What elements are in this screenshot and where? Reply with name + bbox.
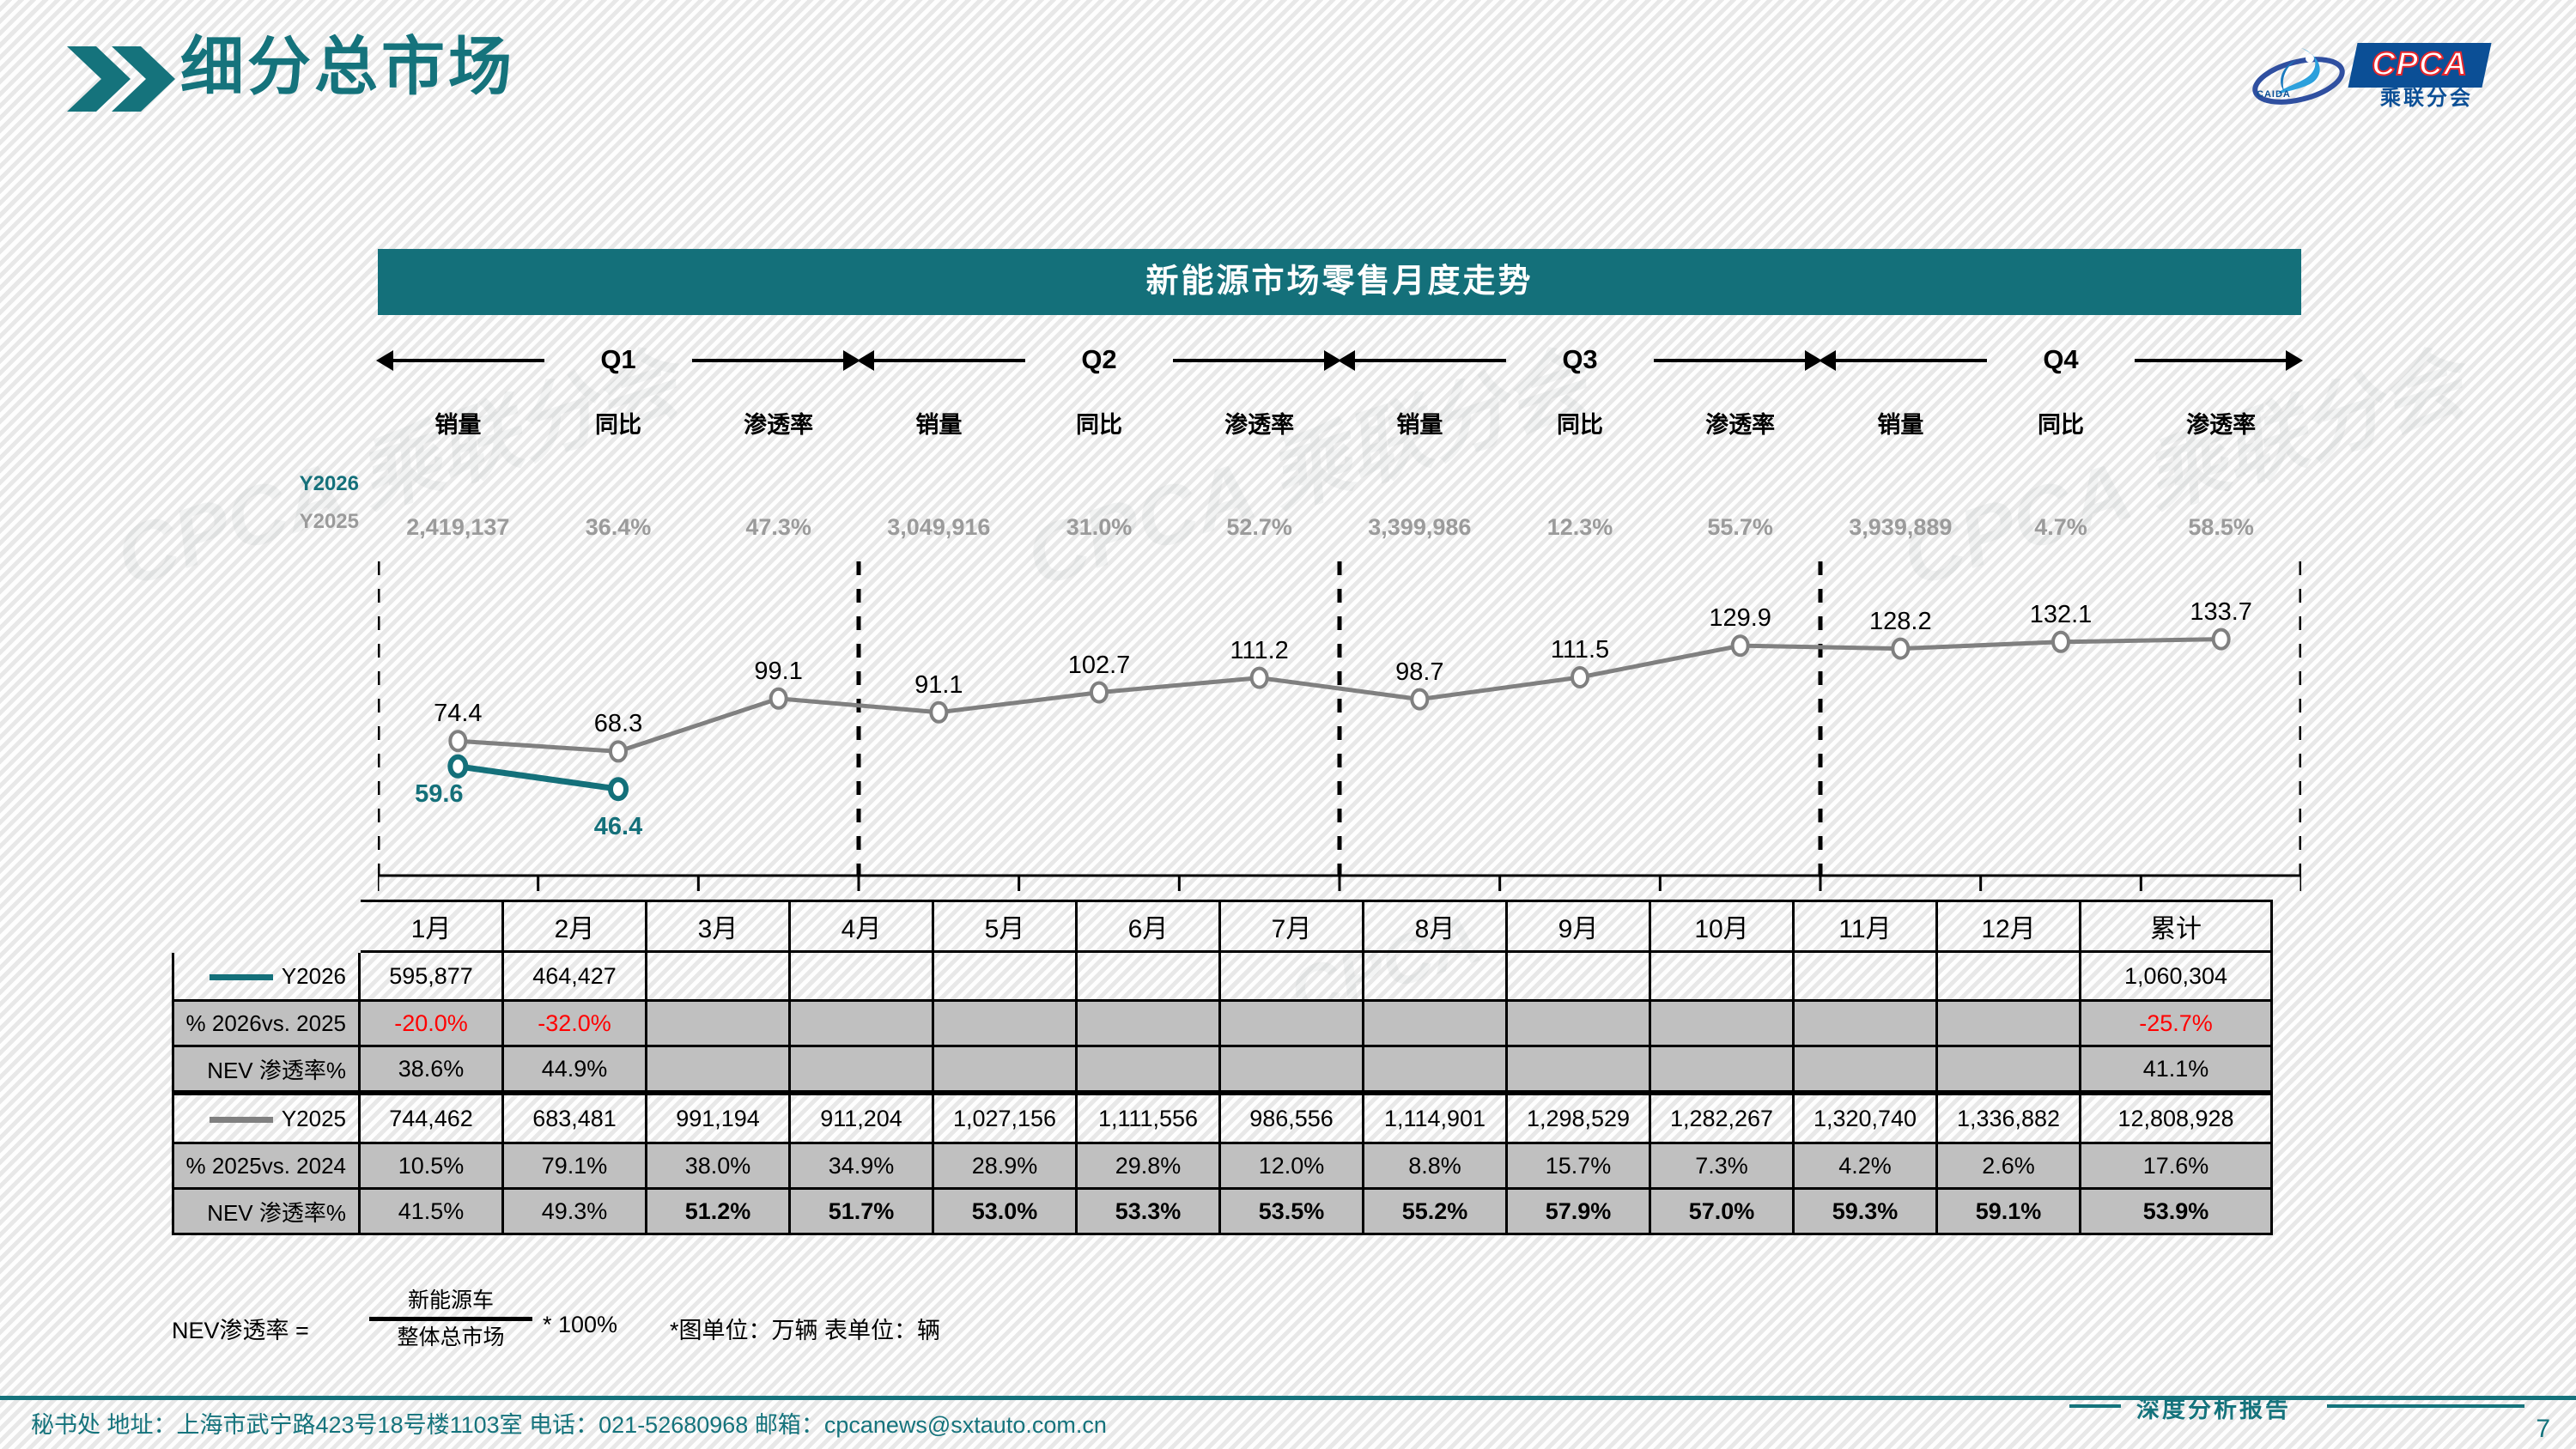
table-cell (1937, 952, 2081, 1001)
series-marker-y2025-3 (931, 703, 946, 722)
series-marker-y2025-1 (611, 742, 626, 761)
table-cell: 595,877 (360, 952, 503, 1001)
series-marker-y2025-8 (1733, 636, 1748, 655)
table-cell (790, 1001, 933, 1046)
table-row-label-cell: % 2025vs. 2024 (173, 1143, 360, 1189)
table-row-label-cell: Y2025 (173, 1093, 360, 1143)
table-cell: 55.2% (1364, 1189, 1507, 1234)
metric-header-row: 销量同比渗透率销量同比渗透率销量同比渗透率销量同比渗透率 (378, 403, 2301, 446)
chart-title: 新能源市场零售月度走势 (378, 249, 2301, 315)
formula-denominator: 整体总市场 (369, 1323, 532, 1352)
formula-lead: NEV渗透率 = (172, 1312, 309, 1345)
metric-header-q3-0: 销量 (1340, 403, 1500, 446)
table-cell (1364, 952, 1507, 1001)
table-col-header-5: 5月 (933, 901, 1077, 952)
table-cell: 44.9% (503, 1046, 647, 1094)
table-cell: 51.2% (647, 1189, 790, 1234)
table-col-header-10: 10月 (1650, 901, 1794, 952)
table-row-label-cell: Y2026 (173, 952, 360, 1001)
quarter-header-q4: Q4 (1820, 342, 2301, 393)
data-label-y2025-5: 111.2 (1230, 637, 1289, 665)
legend-line-y2026 (210, 974, 273, 980)
table-cell (1364, 1046, 1507, 1094)
metric-header-q1-1: 同比 (538, 403, 699, 446)
table-cell (1077, 1001, 1220, 1046)
table-cell (933, 1001, 1077, 1046)
data-label-y2026-1: 46.4 (594, 813, 642, 841)
table-cell: 744,462 (360, 1093, 503, 1143)
summary-value-y2025-9: 3,939,889 (1820, 510, 1981, 544)
data-label-y2025-4: 102.7 (1068, 652, 1131, 680)
table-cell: 1,298,529 (1507, 1093, 1650, 1143)
data-label-y2025-8: 129.9 (1709, 604, 1771, 633)
table-cell (933, 1046, 1077, 1094)
table-cell: 1,282,267 (1650, 1093, 1794, 1143)
summary-value-y2025-5: 52.7% (1179, 510, 1340, 544)
data-label-y2025-0: 74.4 (434, 700, 482, 728)
formula-units: *图单位：万辆 表单位：辆 (670, 1312, 940, 1345)
table-cell: 464,427 (503, 952, 647, 1001)
legend-line-y2025 (210, 1117, 273, 1123)
table-col-header-6: 6月 (1077, 901, 1220, 952)
table-cell: 1,320,740 (1794, 1093, 1937, 1143)
table-cell (1794, 1046, 1937, 1094)
footer-dash-left (2069, 1404, 2121, 1408)
table-cell: 53.9% (2081, 1189, 2272, 1234)
series-marker-y2025-9 (1893, 640, 1908, 658)
table-col-header-8: 8月 (1364, 901, 1507, 952)
table-cell (1507, 1001, 1650, 1046)
summary-label-y2025: Y2025 (258, 510, 359, 534)
table-row-label-cell: NEV 渗透率% (173, 1189, 360, 1234)
formula-fraction: 新能源车 整体总市场 (369, 1286, 532, 1352)
table-col-header-11: 11月 (1794, 901, 1937, 952)
table-cell: 38.6% (360, 1046, 503, 1094)
table-cell: 1,114,901 (1364, 1093, 1507, 1143)
table-cell: 911,204 (790, 1093, 933, 1143)
data-label-y2025-1: 68.3 (594, 710, 642, 738)
table-cell: 10.5% (360, 1143, 503, 1189)
formula-tail: * 100% (543, 1312, 617, 1338)
table-cell: 4.2% (1794, 1143, 1937, 1189)
quarter-label: Q1 (378, 342, 859, 378)
table-cell: 34.9% (790, 1143, 933, 1189)
table-row-label-cell: NEV 渗透率% (173, 1046, 360, 1094)
table-cell: 59.1% (1937, 1189, 2081, 1234)
table-cell: 1,027,156 (933, 1093, 1077, 1143)
metric-header-q2-0: 销量 (859, 403, 1019, 446)
cpca-logo: CPCA 乘联分会 CAIDA (2251, 33, 2535, 112)
table-cell: 53.0% (933, 1189, 1077, 1234)
footer-right: 深度分析报告 7 (2069, 1394, 2550, 1449)
table-cell (1077, 952, 1220, 1001)
table-cell (1937, 1046, 2081, 1094)
table-row-label-cell: % 2026vs. 2025 (173, 1001, 360, 1046)
table-cell (1794, 1001, 1937, 1046)
table-cell: 41.5% (360, 1189, 503, 1234)
table-col-header-3: 3月 (647, 901, 790, 952)
footer-contact: 秘书处 地址：上海市武宁路423号18号楼1103室 电话：021-526809… (31, 1406, 1107, 1440)
summary-value-y2025-6: 3,399,986 (1340, 510, 1500, 544)
table-cell (1220, 952, 1364, 1001)
series-marker-y2025-4 (1091, 683, 1107, 702)
metric-header-q1-2: 渗透率 (698, 403, 859, 446)
table-cell (790, 1046, 933, 1094)
metric-header-q2-2: 渗透率 (1179, 403, 1340, 446)
table-cell: 1,060,304 (2081, 952, 2272, 1001)
table-cell: 986,556 (1220, 1093, 1364, 1143)
table-row-label: Y2026 (282, 963, 346, 989)
table-cell: 57.0% (1650, 1189, 1794, 1234)
metric-header-q3-1: 同比 (1500, 403, 1661, 446)
metric-header-q4-1: 同比 (1981, 403, 2142, 446)
summary-value-y2025-8: 55.7% (1660, 510, 1820, 544)
table-cell: 41.1% (2081, 1046, 2272, 1094)
series-marker-y2025-11 (2214, 630, 2229, 649)
table-cell: 12.0% (1220, 1143, 1364, 1189)
quarter-header-q1: Q1 (378, 342, 859, 393)
table-cell (1220, 1046, 1364, 1094)
footer-report-label: 深度分析报告 (2136, 1391, 2291, 1424)
table-cell: 15.7% (1507, 1143, 1650, 1189)
series-marker-y2026-0 (450, 757, 465, 776)
quarter-header-band: Q1Q2Q3Q4 (378, 342, 2301, 393)
table-header-row: 1月2月3月4月5月6月7月8月9月10月11月12月累计 (173, 901, 2272, 952)
table-cell: 49.3% (503, 1189, 647, 1234)
formula-bar (369, 1317, 532, 1321)
table-cell (933, 952, 1077, 1001)
table-cell: 57.9% (1507, 1189, 1650, 1234)
table-cell (1650, 952, 1794, 1001)
summary-label-y2026: Y2026 (258, 472, 359, 496)
table-cell (1937, 1001, 2081, 1046)
table-row: NEV 渗透率%38.6%44.9%41.1% (173, 1046, 2272, 1094)
summary-value-y2025-11: 58.5% (2141, 510, 2301, 544)
formula-numerator: 新能源车 (369, 1286, 532, 1315)
quarter-header-q3: Q3 (1340, 342, 1820, 393)
table-col-header-9: 9月 (1507, 901, 1650, 952)
table-cell (647, 952, 790, 1001)
table-cell: 51.7% (790, 1189, 933, 1234)
table-row-label: Y2025 (282, 1106, 346, 1131)
quarter-label: Q3 (1340, 342, 1820, 378)
series-marker-y2025-10 (2053, 633, 2069, 652)
table-col-header-4: 4月 (790, 901, 933, 952)
logo-brand-cn: 乘联分会 (2380, 81, 2473, 111)
table-cell (1650, 1046, 1794, 1094)
table-row: % 2025vs. 202410.5%79.1%38.0%34.9%28.9%2… (173, 1143, 2272, 1189)
table-cell: 53.5% (1220, 1189, 1364, 1234)
table-cell: 17.6% (2081, 1143, 2272, 1189)
data-label-y2025-3: 91.1 (914, 671, 963, 700)
line-chart-plot: 59.646.474.468.399.191.1102.7111.298.711… (378, 549, 2301, 900)
table-cell: 991,194 (647, 1093, 790, 1143)
data-table: 1月2月3月4月5月6月7月8月9月10月11月12月累计Y2026595,87… (172, 900, 2273, 1235)
table-cell (1220, 1001, 1364, 1046)
table-cell: 79.1% (503, 1143, 647, 1189)
table-cell: 53.3% (1077, 1189, 1220, 1234)
summary-value-y2025-0: 2,419,137 (378, 510, 538, 544)
table-cell (1507, 1046, 1650, 1094)
page-title: 细分总市场 (180, 24, 515, 110)
data-label-y2025-6: 98.7 (1395, 658, 1443, 687)
metric-header-q2-1: 同比 (1019, 403, 1180, 446)
data-label-y2025-11: 133.7 (2190, 598, 2252, 627)
formula-note: NEV渗透率 = 新能源车 整体总市场 * 100% *图单位：万辆 表单位：辆 (172, 1286, 1374, 1372)
summary-value-y2025-10: 4.7% (1981, 510, 2142, 544)
table-row: % 2026vs. 2025-20.0%-32.0%-25.7% (173, 1001, 2272, 1046)
table-cell: -25.7% (2081, 1001, 2272, 1046)
data-label-y2025-2: 99.1 (754, 658, 802, 686)
data-label-y2025-9: 128.2 (1869, 608, 1932, 636)
table-row-label: NEV 渗透率% (207, 1200, 346, 1226)
table-row-label: % 2025vs. 2024 (186, 1153, 346, 1179)
table-col-header-0 (173, 901, 360, 952)
table-cell: 28.9% (933, 1143, 1077, 1189)
summary-value-y2025-7: 12.3% (1500, 510, 1661, 544)
table-row-label: NEV 渗透率% (207, 1058, 346, 1083)
summary-rows: Y2026 Y2025 2,419,13736.4%47.3%3,049,916… (258, 472, 2301, 549)
table-col-header-2: 2月 (503, 901, 647, 952)
series-line-y2026 (458, 767, 618, 789)
series-marker-y2025-2 (771, 689, 787, 708)
metric-header-q3-2: 渗透率 (1660, 403, 1820, 446)
table-col-header-1: 1月 (360, 901, 503, 952)
table-cell (1507, 952, 1650, 1001)
quarter-header-q2: Q2 (859, 342, 1340, 393)
table-cell: 7.3% (1650, 1143, 1794, 1189)
series-marker-y2025-5 (1252, 669, 1267, 688)
footer-dash-right (2327, 1404, 2524, 1408)
table-row: Y2025744,462683,481991,194911,2041,027,1… (173, 1093, 2272, 1143)
table-row: NEV 渗透率%41.5%49.3%51.2%51.7%53.0%53.3%53… (173, 1189, 2272, 1234)
table-cell (790, 952, 933, 1001)
quarter-label: Q2 (859, 342, 1340, 378)
series-marker-y2025-7 (1572, 668, 1588, 687)
table-col-header-13: 累计 (2081, 901, 2272, 952)
double-chevron-right-icon (67, 46, 175, 116)
table-cell: 2.6% (1937, 1143, 2081, 1189)
table-cell: 1,336,882 (1937, 1093, 2081, 1143)
table-cell (647, 1001, 790, 1046)
logo-brand-sub: CAIDA (2257, 89, 2291, 100)
data-label-y2026-0: 59.6 (415, 780, 463, 809)
table-row: Y2026595,877464,4271,060,304 (173, 952, 2272, 1001)
table-col-header-7: 7月 (1220, 901, 1364, 952)
table-cell: 1,111,556 (1077, 1093, 1220, 1143)
quarter-label: Q4 (1820, 342, 2301, 378)
summary-value-y2025-2: 47.3% (698, 510, 859, 544)
chart-svg (378, 549, 2301, 900)
table-cell: 8.8% (1364, 1143, 1507, 1189)
table-row-label: % 2026vs. 2025 (186, 1010, 346, 1036)
table-cell (1077, 1046, 1220, 1094)
page-header: 细分总市场 (0, 24, 2576, 127)
summary-value-y2025-4: 31.0% (1019, 510, 1180, 544)
metric-header-q4-0: 销量 (1820, 403, 1981, 446)
metric-header-q4-2: 渗透率 (2141, 403, 2301, 446)
chart-title-bar: 新能源市场零售月度走势 (378, 249, 2301, 315)
summary-value-y2025-1: 36.4% (538, 510, 699, 544)
table-cell: 12,808,928 (2081, 1093, 2272, 1143)
metric-header-q1-0: 销量 (378, 403, 538, 446)
table-cell (1794, 952, 1937, 1001)
table-cell (1364, 1001, 1507, 1046)
table-cell: 59.3% (1794, 1189, 1937, 1234)
data-label-y2025-7: 111.5 (1551, 636, 1609, 664)
table-cell: -20.0% (360, 1001, 503, 1046)
data-label-y2025-10: 132.1 (2030, 601, 2093, 629)
table-cell (647, 1046, 790, 1094)
page-number: 7 (2536, 1415, 2550, 1444)
series-marker-y2026-1 (611, 779, 626, 798)
table-cell: 29.8% (1077, 1143, 1220, 1189)
table-cell: 683,481 (503, 1093, 647, 1143)
summary-values: 2,419,13736.4%47.3%3,049,91631.0%52.7%3,… (378, 510, 2301, 544)
summary-value-y2025-3: 3,049,916 (859, 510, 1019, 544)
series-marker-y2025-0 (450, 731, 465, 750)
table-col-header-12: 12月 (1937, 901, 2081, 952)
table-cell: -32.0% (503, 1001, 647, 1046)
series-marker-y2025-6 (1412, 690, 1427, 709)
table-cell (1650, 1001, 1794, 1046)
table-cell: 38.0% (647, 1143, 790, 1189)
